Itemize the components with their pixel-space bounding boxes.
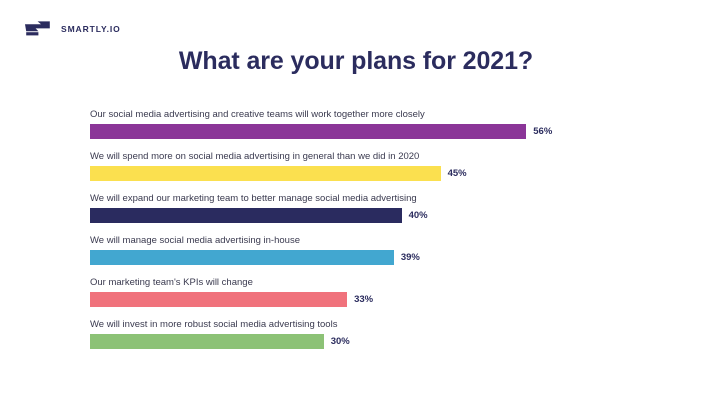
bar-track: 30% [90, 334, 650, 349]
bar-fill [90, 166, 441, 181]
brand-name: SMARTLY.IO [61, 24, 121, 34]
bar-track: 40% [90, 208, 650, 223]
bar-category-label: We will spend more on social media adver… [90, 150, 650, 163]
bar-fill [90, 208, 402, 223]
bar-category-label: We will manage social media advertising … [90, 234, 650, 247]
bar-track: 39% [90, 250, 650, 265]
bar-track: 45% [90, 166, 650, 181]
bar-fill [90, 124, 526, 139]
smartly-arrow-logo-icon [24, 21, 52, 36]
bar-value-label: 33% [354, 294, 373, 305]
bar-fill [90, 250, 394, 265]
bar-category-label: Our marketing team's KPIs will change [90, 276, 650, 289]
brand-logo: SMARTLY.IO [24, 21, 121, 36]
bar-track: 56% [90, 124, 650, 139]
horizontal-bar-chart: Our social media advertising and creativ… [90, 108, 650, 360]
bar-value-label: 30% [331, 336, 350, 347]
bar-track: 33% [90, 292, 650, 307]
bar-value-label: 56% [533, 126, 552, 137]
bar-category-label: Our social media advertising and creativ… [90, 108, 650, 121]
bar-row: Our social media advertising and creativ… [90, 108, 650, 139]
bar-value-label: 39% [401, 252, 420, 263]
bar-row: We will manage social media advertising … [90, 234, 650, 265]
bar-value-label: 45% [448, 168, 467, 179]
bar-row: Our marketing team's KPIs will change33% [90, 276, 650, 307]
bar-category-label: We will expand our marketing team to bet… [90, 192, 650, 205]
bar-row: We will expand our marketing team to bet… [90, 192, 650, 223]
bar-row: We will invest in more robust social med… [90, 318, 650, 349]
bar-row: We will spend more on social media adver… [90, 150, 650, 181]
bar-fill [90, 334, 324, 349]
bar-value-label: 40% [409, 210, 428, 221]
bar-category-label: We will invest in more robust social med… [90, 318, 650, 331]
bar-fill [90, 292, 347, 307]
page-title: What are your plans for 2021? [0, 47, 712, 76]
